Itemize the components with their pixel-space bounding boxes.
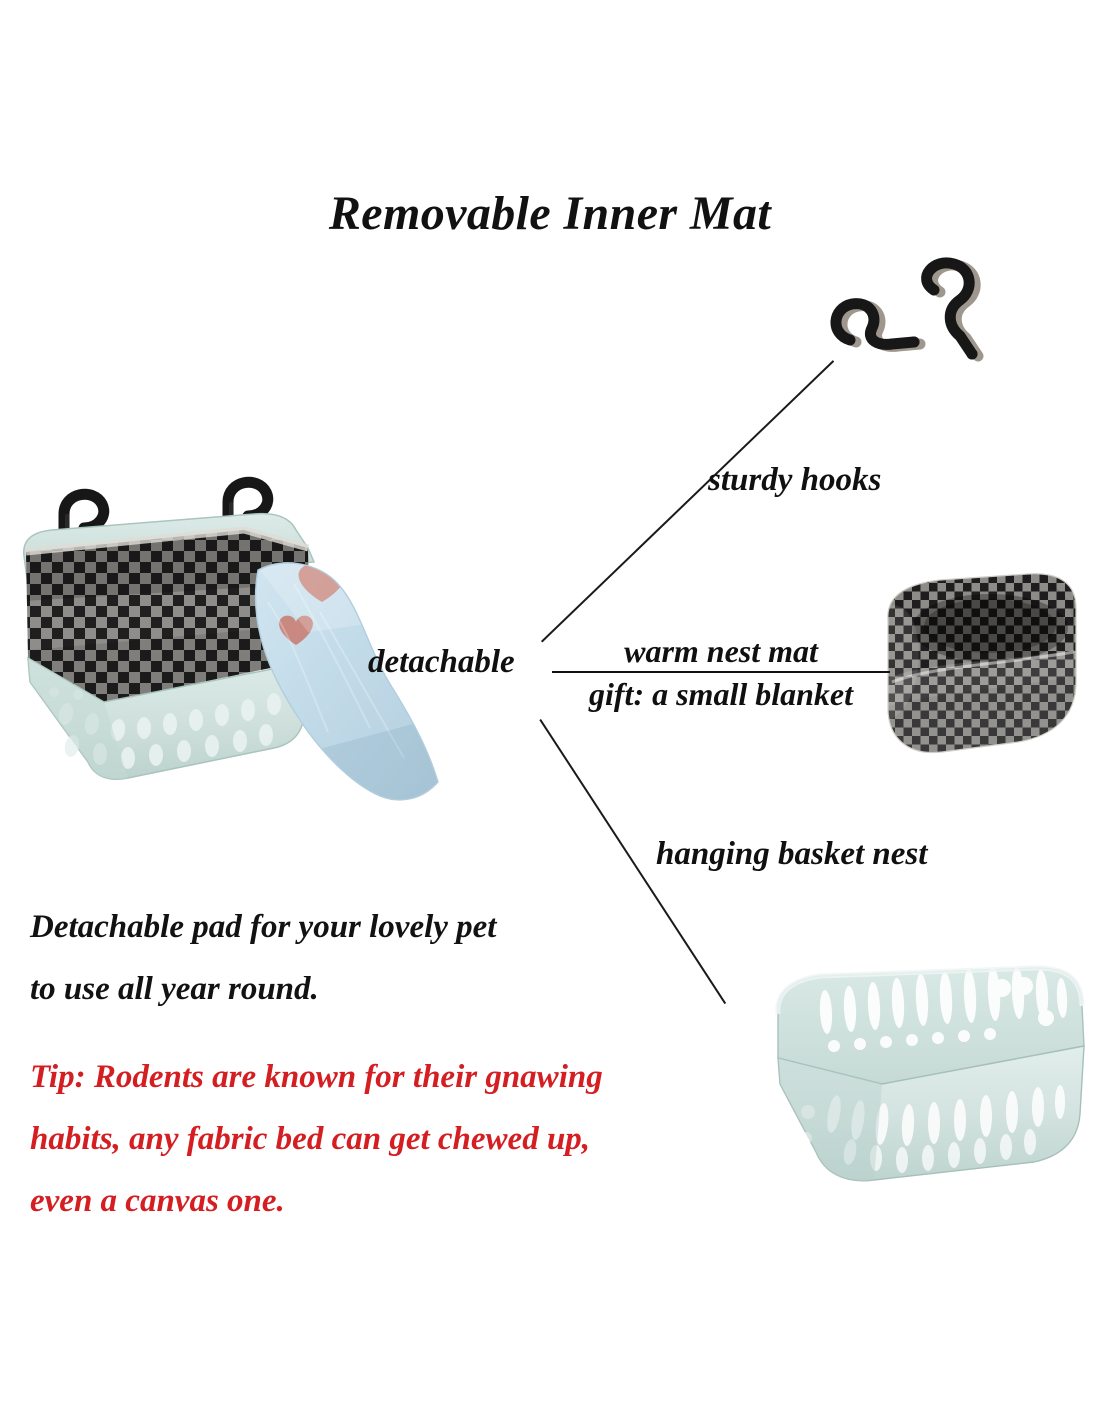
infographic-page: Removable Inner Mat bbox=[0, 0, 1100, 1422]
callout-hanging-basket-nest: hanging basket nest bbox=[656, 836, 927, 873]
tip-paragraph: Tip: Rodents are known for their gnawing… bbox=[30, 1046, 603, 1232]
fraction-numerator: warm nest mat bbox=[552, 634, 890, 668]
leader-line-hooks bbox=[541, 360, 834, 642]
gingham-mat-image bbox=[878, 566, 1084, 756]
page-title: Removable Inner Mat bbox=[0, 186, 1100, 241]
tip-line-3: even a canvas one. bbox=[30, 1170, 603, 1232]
tip-line-1: Tip: Rodents are known for their gnawing bbox=[30, 1046, 603, 1108]
description-line-1: Detachable pad for your lovely pet bbox=[30, 896, 496, 958]
empty-basket-image bbox=[762, 962, 1092, 1188]
description-paragraph: Detachable pad for your lovely pet to us… bbox=[30, 896, 496, 1020]
callout-warm-nest-mat-fraction: warm nest mat gift: a small blanket bbox=[552, 634, 890, 711]
fraction-bar bbox=[552, 671, 890, 673]
hook-pair-image bbox=[828, 252, 1016, 370]
tip-line-2: habits, any fabric bed can get chewed up… bbox=[30, 1108, 603, 1170]
fraction-denominator: gift: a small blanket bbox=[552, 677, 890, 711]
callout-sturdy-hooks: sturdy hooks bbox=[708, 462, 881, 499]
callout-detachable: detachable bbox=[368, 644, 515, 681]
description-line-2: to use all year round. bbox=[30, 958, 496, 1020]
